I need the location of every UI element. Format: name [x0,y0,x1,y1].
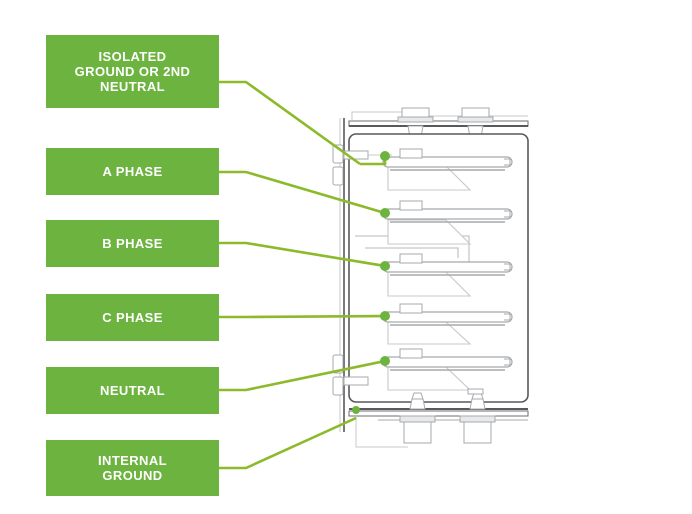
label-text-c-phase: C PHASE [102,310,163,325]
label-box-neutral[interactable]: NEUTRAL [46,367,219,414]
label-text-b-phase: B PHASE [102,236,163,251]
illustration-stage: ISOLATEDGROUND OR 2NDNEUTRALA PHASEB PHA… [0,0,692,514]
label-text-a-phase: A PHASE [102,164,162,179]
label-text-neutral: NEUTRAL [100,383,165,398]
leader-line-internal-ground [219,418,356,468]
connection-dot-c-phase[interactable] [380,311,390,321]
leader-line-c-phase [219,316,385,317]
label-text-internal-ground: INTERNALGROUND [98,453,167,484]
label-text-isolated-ground-or-2nd-neutral: ISOLATEDGROUND OR 2NDNEUTRAL [75,49,191,95]
connection-dot-a-phase[interactable] [380,208,390,218]
label-box-a-phase[interactable]: A PHASE [46,148,219,195]
connection-dot-isolated-ground-or-2nd-neutral[interactable] [380,151,390,161]
label-box-b-phase[interactable]: B PHASE [46,220,219,267]
connection-dot-b-phase[interactable] [380,261,390,271]
label-box-c-phase[interactable]: C PHASE [46,294,219,341]
connection-dot-internal-ground[interactable] [352,406,360,414]
label-box-isolated-ground-or-2nd-neutral[interactable]: ISOLATEDGROUND OR 2NDNEUTRAL [46,35,219,108]
label-box-internal-ground[interactable]: INTERNALGROUND [46,440,219,496]
leader-line-a-phase [219,172,385,213]
leader-line-neutral [219,361,385,390]
leader-line-b-phase [219,243,385,266]
connection-dot-neutral[interactable] [380,356,390,366]
leader-line-isolated-ground-or-2nd-neutral [219,82,360,164]
